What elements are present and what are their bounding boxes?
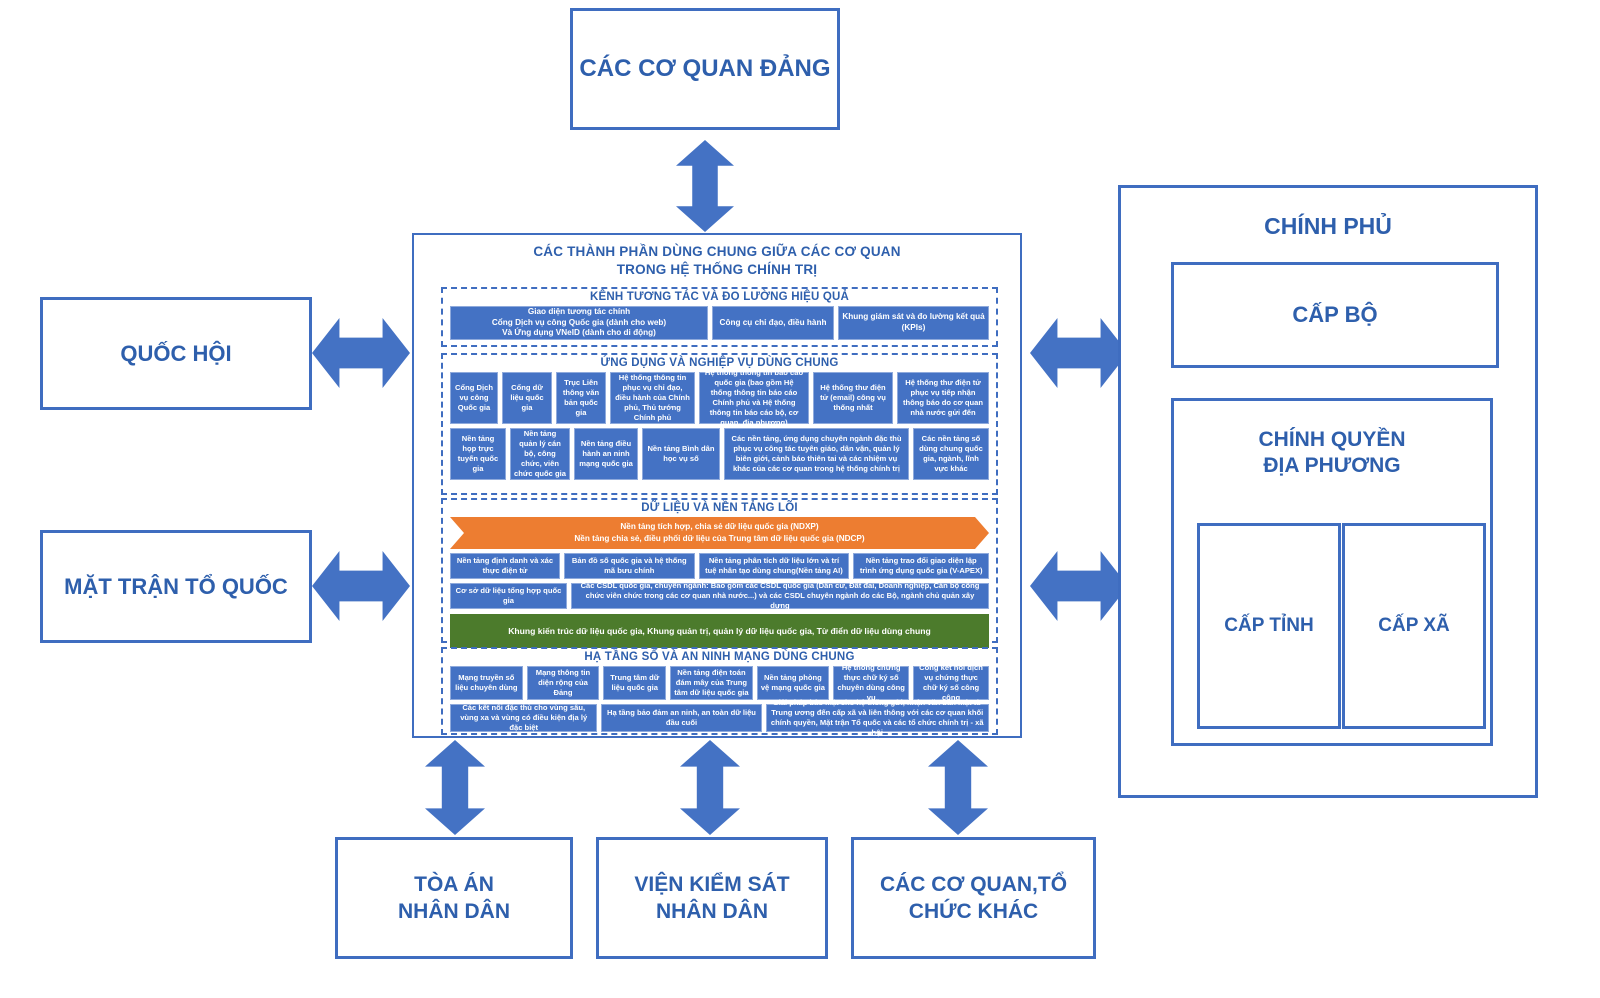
tile-cloud-platform[interactable]: Nền tảng điện toán đám mây của Trung tâm… [670, 666, 752, 700]
right-box-local-government: CHÍNH QUYỀN ĐỊA PHƯƠNG CẤP TỈNH CẤP XÃ [1171, 398, 1493, 746]
right-box-cap-tinh[interactable]: CẤP TỈNH [1197, 523, 1341, 729]
layer1-row1: Nền tảng họp trực tuyến quốc gia Nền tản… [443, 424, 996, 480]
layer1-row0: Cổng Dịch vụ công Quốc gia Cổng dữ liệu … [443, 372, 996, 424]
bottom-box-label-1: VIỆN KIỂM SÁT NHÂN DÂN [634, 871, 789, 926]
left-box-national-assembly[interactable]: QUỐC HỘI [40, 297, 312, 410]
tile-vapex-platform[interactable]: Nền tảng trao đổi giao diện lập trình ứn… [853, 553, 989, 579]
right-panel-title: CHÍNH PHỦ [1121, 188, 1535, 240]
cap-bo-label: CẤP BỘ [1292, 302, 1377, 328]
tile-document-exchange-axis[interactable]: Trục Liên thông văn bản quốc gia [556, 372, 606, 424]
tile-national-reporting-system[interactable]: Hệ thống thông tin báo cáo quốc gia (bao… [699, 372, 809, 424]
tile-ca-connection-gateway[interactable]: Cổng kết nối dịch vụ chứng thực chữ ký s… [913, 666, 989, 700]
tile-direction-tool[interactable]: Công cụ chỉ đạo, điều hành [712, 306, 834, 340]
right-panel-government: CHÍNH PHỦ CẤP BỘ CHÍNH QUYỀN ĐỊA PHƯƠNG … [1118, 185, 1538, 798]
layer2-row0: Nền tảng định danh và xác thực điện tử B… [450, 553, 989, 579]
tile-online-meeting-platform[interactable]: Nền tảng họp trực tuyến quốc gia [450, 428, 506, 480]
left-box-label-0: QUỐC HỘI [120, 341, 231, 367]
cap-tinh-label: CẤP TỈNH [1224, 615, 1313, 637]
center-title-line1: CÁC THÀNH PHẦN DÙNG CHUNG GIỮA CÁC CƠ QU… [414, 243, 1020, 261]
left-box-fatherland-front[interactable]: MẶT TRẬN TỔ QUỐC [40, 530, 312, 643]
tile-national-digital-map[interactable]: Bản đồ số quốc gia và hệ thống mã bưu ch… [564, 553, 694, 579]
layer-interaction-channel: KÊNH TƯƠNG TÁC VÀ ĐO LƯỜNG HIỆU QUẢ Giao… [441, 287, 998, 347]
layer-applications: ỨNG DỤNG VÀ NGHIỆP VỤ DÙNG CHUNG Cổng Dị… [441, 353, 998, 495]
bottom-box-label-2: CÁC CƠ QUAN,TỔ CHỨC KHÁC [880, 871, 1067, 926]
center-title-line2: TRONG HỆ THỐNG CHÍNH TRỊ [414, 261, 1020, 279]
arrow-bottom-1 [425, 740, 485, 835]
tile-government-direction-info-system[interactable]: Hệ thống thông tin phục vụ chỉ đạo, điều… [610, 372, 695, 424]
right-box-cap-xa[interactable]: CẤP XÃ [1342, 523, 1486, 729]
tile-notification-email-system[interactable]: Hệ thống thư điện tử phục vụ tiếp nhận t… [897, 372, 989, 424]
layer-digital-infrastructure: HẠ TẦNG SỐ VÀ AN NINH MẠNG DÙNG CHUNG Mạ… [441, 647, 998, 735]
bottom-box-peoples-court[interactable]: TÒA ÁN NHÂN DÂN [335, 837, 573, 959]
tile-public-digital-signature[interactable]: Hệ thống chứng thực chữ ký số chuyên dùn… [833, 666, 909, 700]
layer-title-3: HẠ TẦNG SỐ VÀ AN NINH MẠNG DÙNG CHUNG [443, 649, 996, 666]
tile-kpi-framework[interactable]: Khung giám sát và đo lường kết quả (KPIs… [838, 306, 989, 340]
tile-endpoint-security-infrastructure[interactable]: Hạ tầng bảo đảm an ninh, an toàn dữ liệu… [601, 704, 761, 732]
tile-portal-interface[interactable]: Giao diện tương tác chính Cổng Dịch vụ c… [450, 306, 708, 340]
cap-xa-label: CẤP XÃ [1378, 615, 1449, 637]
tile-civil-servant-management-platform[interactable]: Nền tảng quản lý cán bộ, công chức, viên… [510, 428, 570, 480]
tile-specialized-platforms[interactable]: Các nền tảng, ứng dụng chuyên ngành đặc … [724, 428, 909, 480]
tile-party-wan[interactable]: Mạng thông tin diện rộng của Đảng [527, 666, 600, 700]
bottom-box-other-organizations[interactable]: CÁC CƠ QUAN,TỔ CHỨC KHÁC [851, 837, 1096, 959]
tile-dedicated-data-network[interactable]: Mạng truyền số liệu chuyên dùng [450, 666, 523, 700]
banner-data-architecture-framework[interactable]: Khung kiến trúc dữ liệu quốc gia, Khung … [450, 614, 989, 648]
tile-bigdata-ai-platform[interactable]: Nền tảng phân tích dữ liệu lớn và trí tu… [699, 553, 850, 579]
arrow-bottom-2 [680, 740, 740, 835]
tile-eid-platform[interactable]: Nền tảng định danh và xác thực điện tử [450, 553, 560, 579]
layer-data-core-platform: DỮ LIỆU VÀ NỀN TẢNG LÕI Nền tảng tích hợ… [441, 498, 998, 643]
layer-title-0: KÊNH TƯƠNG TÁC VÀ ĐO LƯỜNG HIỆU QUẢ [443, 289, 996, 306]
center-panel-title: CÁC THÀNH PHẦN DÙNG CHUNG GIỮA CÁC CƠ QU… [414, 235, 1020, 279]
bottom-box-label-0: TÒA ÁN NHÂN DÂN [398, 871, 510, 926]
right-box-cap-bo[interactable]: CẤP BỘ [1171, 262, 1499, 368]
tile-national-data-center[interactable]: Trung tâm dữ liệu quốc gia [603, 666, 666, 700]
tile-remote-area-connections[interactable]: Các kết nối đặc thù cho vùng sâu, vùng x… [450, 704, 597, 732]
layer3-row0: Mạng truyền số liệu chuyên dùng Mạng thô… [443, 666, 996, 700]
tile-public-service-portal[interactable]: Cổng Dịch vụ công Quốc gia [450, 372, 498, 424]
tile-unified-email-system[interactable]: Hệ thống thư điện tử (email) công vụ thố… [813, 372, 893, 424]
arrow-right-lower [1030, 551, 1128, 621]
tile-national-cyber-defense[interactable]: Nền tảng phòng vệ mạng quốc gia [757, 666, 830, 700]
top-box-label: CÁC CƠ QUAN ĐẢNG [579, 55, 830, 83]
tile-national-data-portal[interactable]: Cổng dữ liệu quốc gia [502, 372, 552, 424]
layer-title-2: DỮ LIỆU VÀ NỀN TẢNG LÕI [443, 500, 996, 517]
arrow-left-upper [312, 318, 410, 388]
layer3-row1: Các kết nối đặc thù cho vùng sâu, vùng x… [443, 700, 996, 732]
arrow-top-vertical [676, 140, 734, 232]
layer2-row1: Cơ sở dữ liệu tổng hợp quốc gia Các CSDL… [450, 583, 989, 609]
top-box-party-agencies[interactable]: CÁC CƠ QUAN ĐẢNG [570, 8, 840, 130]
layer0-row0: Giao diện tương tác chính Cổng Dịch vụ c… [443, 306, 996, 340]
tile-digital-literacy-platform[interactable]: Nền tảng Bình dân học vụ số [642, 428, 720, 480]
arrow-right-upper [1030, 318, 1128, 388]
tile-integrated-national-database[interactable]: Cơ sở dữ liệu tổng hợp quốc gia [450, 583, 567, 609]
center-panel: CÁC THÀNH PHẦN DÙNG CHUNG GIỮA CÁC CƠ QU… [412, 233, 1022, 738]
arrow-left-lower [312, 551, 410, 621]
left-box-label-1: MẶT TRẬN TỔ QUỐC [64, 574, 288, 600]
local-government-title: CHÍNH QUYỀN ĐỊA PHƯƠNG [1174, 401, 1490, 480]
tile-network-security-platform[interactable]: Nền tảng điều hành an ninh mạng quốc gia [574, 428, 638, 480]
tile-national-specialized-databases[interactable]: Các CSDL quốc gia, chuyên ngành: Bao gồm… [571, 583, 989, 609]
tile-confidential-document-security[interactable]: Giải pháp bảo mật cho hệ thống gửi, nhận… [766, 704, 989, 732]
banner-ndxp-ndcp[interactable]: Nền tảng tích hợp, chia sẻ dữ liệu quốc … [450, 517, 989, 549]
bottom-box-peoples-procuracy[interactable]: VIỆN KIỂM SÁT NHÂN DÂN [596, 837, 828, 959]
tile-other-shared-platforms[interactable]: Các nền tảng số dùng chung quốc gia, ngà… [913, 428, 989, 480]
arrow-bottom-3 [928, 740, 988, 835]
